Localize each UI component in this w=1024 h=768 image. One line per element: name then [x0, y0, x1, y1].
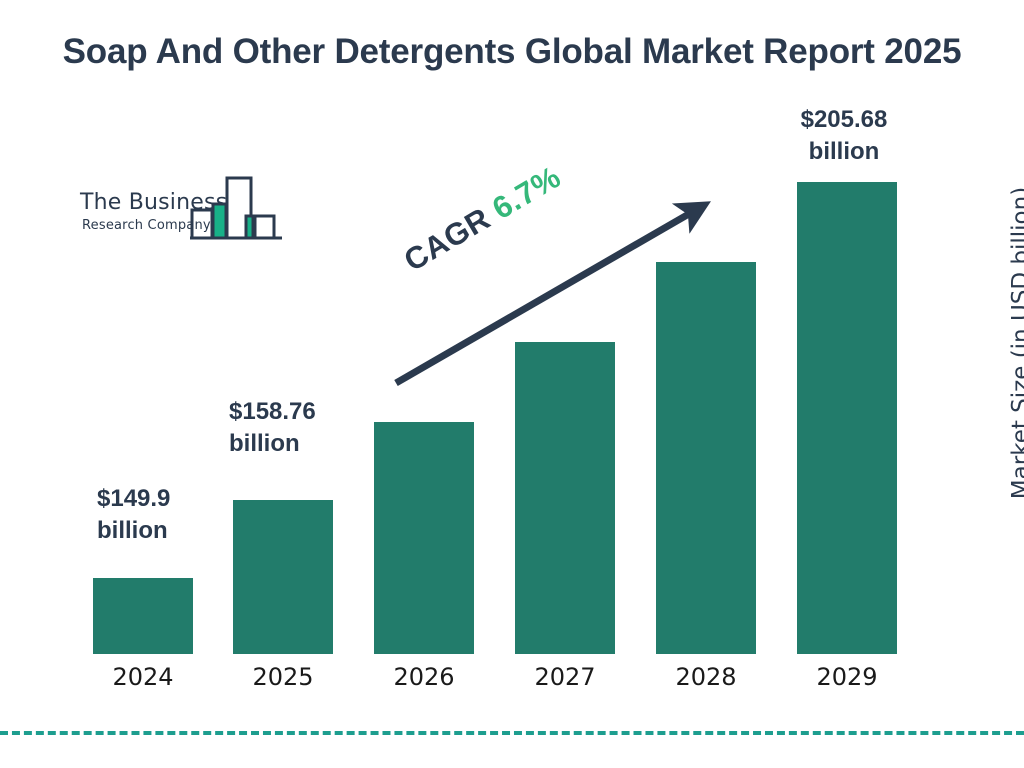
bar-chart: $149.9 billion $158.76 billion $205.68 b… [0, 0, 1024, 768]
bar-2025 [233, 500, 333, 654]
bar-value-2025: $158.76 billion [229, 396, 316, 459]
cagr-word: CAGR [398, 201, 496, 279]
bar-2027 [515, 342, 615, 654]
cagr-label: CAGR 6.7% [398, 159, 567, 279]
bar-value-2025-amount: $158.76 [229, 396, 316, 428]
bar-value-2024-amount: $149.9 [97, 483, 170, 515]
bar-2026 [374, 422, 474, 654]
bar-2028 [656, 262, 756, 654]
x-tick-2027: 2027 [515, 663, 615, 691]
bar-2024 [93, 578, 193, 654]
x-tick-2029: 2029 [797, 663, 897, 691]
bar-value-2029: $205.68 billion [789, 104, 899, 167]
bar-value-2029-amount: $205.68 [789, 104, 899, 136]
bar-value-2024: $149.9 billion [97, 483, 170, 546]
bar-value-2029-unit: billion [789, 136, 899, 168]
x-tick-2024: 2024 [93, 663, 193, 691]
bar-value-2025-unit: billion [229, 428, 316, 460]
bar-2029 [797, 182, 897, 654]
bar-value-2024-unit: billion [97, 515, 170, 547]
x-tick-2028: 2028 [656, 663, 756, 691]
x-tick-2026: 2026 [374, 663, 474, 691]
x-tick-2025: 2025 [233, 663, 333, 691]
cagr-value: 6.7% [486, 159, 566, 226]
y-axis-title: Market Size (in USD billion) [1008, 183, 1024, 503]
footer-divider [0, 731, 1024, 735]
